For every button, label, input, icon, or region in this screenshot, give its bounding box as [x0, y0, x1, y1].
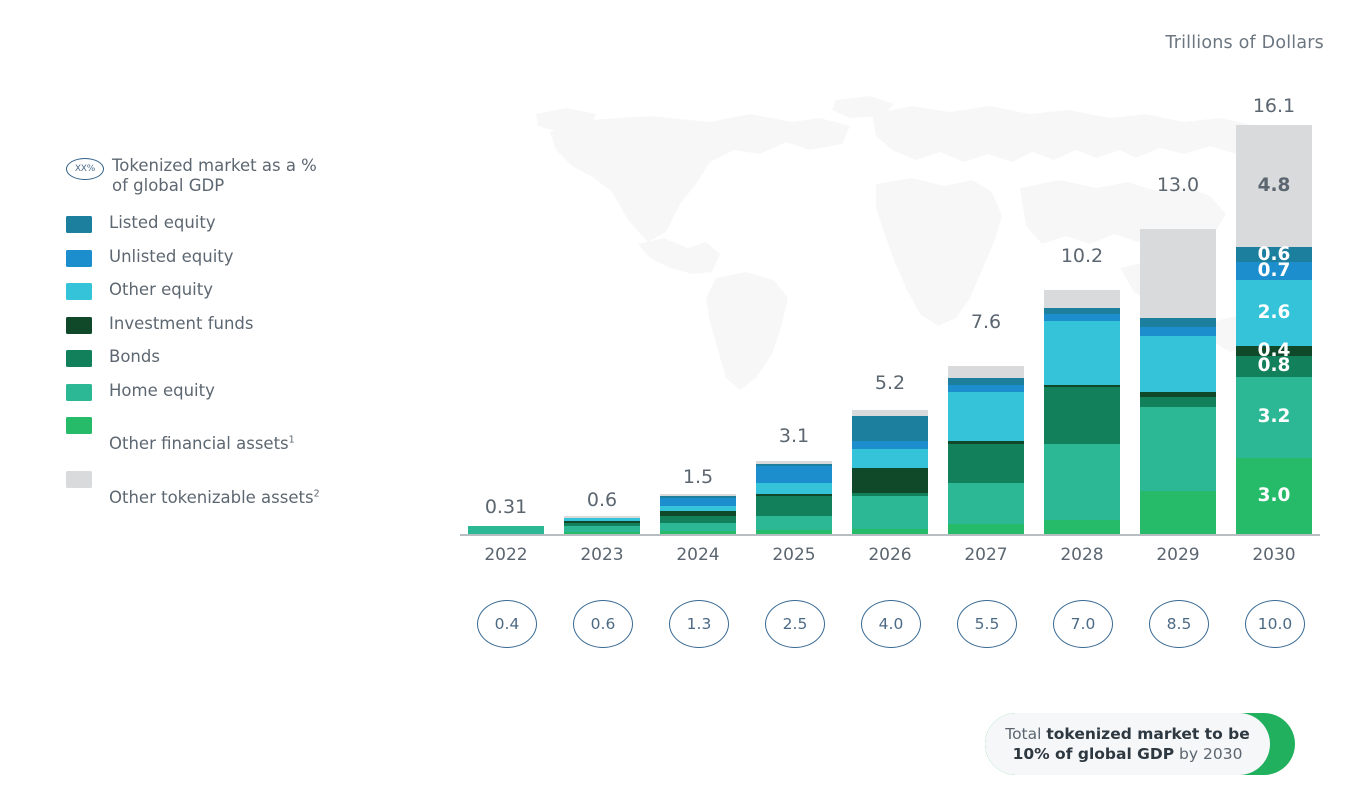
- legend-swatch-bonds: [66, 350, 92, 367]
- bar-total-label-2026: 5.2: [852, 372, 928, 394]
- chart-legend: XX% Tokenized market as a % of global GD…: [66, 156, 396, 521]
- legend-item-other-financial-assets[interactable]: Other financial assets1: [66, 414, 396, 454]
- legend-item-other-tokenizable-assets[interactable]: Other tokenizable assets2: [66, 468, 396, 508]
- bar-column-2026[interactable]: [852, 410, 928, 534]
- segment-value-label: 0.7: [1236, 262, 1312, 281]
- bar-segment-home_equity-2029[interactable]: [1140, 407, 1216, 491]
- axis-baseline: [460, 534, 1320, 536]
- legend-item-gdp-note: XX% Tokenized market as a % of global GD…: [66, 156, 396, 196]
- bar-segment-other_financial-2029[interactable]: [1140, 491, 1216, 534]
- bar-total-label-2024: 1.5: [660, 466, 736, 488]
- legend-item-unlisted-equity[interactable]: Unlisted equity: [66, 247, 396, 267]
- bar-column-2030[interactable]: 4.80.60.72.60.40.83.23.0: [1236, 125, 1312, 534]
- bar-segment-other_equity-2025[interactable]: [756, 483, 832, 494]
- segment-value-label: 3.0: [1236, 487, 1312, 506]
- legend-swatch-other-tokenizable-assets: [66, 471, 92, 488]
- bar-total-label-2022: 0.31: [468, 496, 544, 518]
- legend-swatch-listed-equity: [66, 216, 92, 233]
- bar-segment-bonds-2029[interactable]: [1140, 397, 1216, 407]
- bar-segment-other_financial-2030[interactable]: 3.0: [1236, 458, 1312, 534]
- x-axis-label-2024: 2024: [660, 545, 736, 565]
- x-axis-label-2022: 2022: [468, 545, 544, 565]
- bar-column-2027[interactable]: [948, 366, 1024, 534]
- bar-segment-investment_funds-2026[interactable]: [852, 468, 928, 493]
- bar-segment-unlisted_equity-2028[interactable]: [1044, 314, 1120, 322]
- bar-column-2022[interactable]: [468, 526, 544, 534]
- callout-text: Total tokenized market to be 10% of glob…: [985, 724, 1270, 764]
- legend-swatch-other-financial-assets: [66, 417, 92, 434]
- bar-segment-unlisted_equity-2026[interactable]: [852, 441, 928, 449]
- gdp-share-badge-2030: 10.0: [1245, 600, 1305, 648]
- bar-total-label-2028: 10.2: [1044, 245, 1120, 267]
- bar-total-label-2027: 7.6: [948, 311, 1024, 333]
- legend-label-gdp-note: Tokenized market as a % of global GDP: [112, 156, 317, 196]
- bar-segment-home_equity-2025[interactable]: [756, 516, 832, 530]
- bar-segment-other_tokenizable-2029[interactable]: [1140, 229, 1216, 318]
- bar-total-label-2025: 3.1: [756, 425, 832, 447]
- x-axis-label-2028: 2028: [1044, 545, 1120, 565]
- bar-column-2023[interactable]: [564, 516, 640, 534]
- legend-swatch-unlisted-equity: [66, 250, 92, 267]
- x-axis-label-2027: 2027: [948, 545, 1024, 565]
- legend-label-text: Other financial assets: [109, 434, 289, 453]
- gdp-share-row: 0.40.61.32.54.05.57.08.510.0: [450, 600, 1330, 656]
- bar-segment-listed_equity-2027[interactable]: [948, 378, 1024, 386]
- bar-segment-other_tokenizable-2028[interactable]: [1044, 290, 1120, 308]
- x-axis-label-2025: 2025: [756, 545, 832, 565]
- units-label: Trillions of Dollars: [1165, 33, 1324, 53]
- bar-segment-bonds-2030[interactable]: 0.8: [1236, 356, 1312, 376]
- legend-label-investment-funds: Investment funds: [109, 314, 254, 334]
- segment-value-label: 0.8: [1236, 357, 1312, 376]
- bar-segment-bonds-2028[interactable]: [1044, 387, 1120, 444]
- legend-item-bonds[interactable]: Bonds: [66, 347, 396, 367]
- gdp-share-badge-2027: 5.5: [957, 600, 1017, 648]
- gdp-share-badge-2022: 0.4: [477, 600, 537, 648]
- legend-item-listed-equity[interactable]: Listed equity: [66, 213, 396, 233]
- legend-item-other-equity[interactable]: Other equity: [66, 280, 396, 300]
- bar-segment-bonds-2027[interactable]: [948, 444, 1024, 483]
- bar-segment-other_equity-2026[interactable]: [852, 449, 928, 468]
- gdp-share-badge-2028: 7.0: [1053, 600, 1113, 648]
- legend-swatch-home-equity: [66, 384, 92, 401]
- bar-column-2025[interactable]: [756, 461, 832, 534]
- bar-segment-home_equity-2028[interactable]: [1044, 444, 1120, 520]
- bar-segment-other_tokenizable-2027[interactable]: [948, 366, 1024, 377]
- legend-item-investment-funds[interactable]: Investment funds: [66, 314, 396, 334]
- chart-canvas: Trillions of Dollars XX% Tokenized marke…: [0, 0, 1368, 793]
- segment-value-label: 2.6: [1236, 304, 1312, 323]
- bar-segment-other_equity-2027[interactable]: [948, 392, 1024, 442]
- bar-segment-home_equity-2022[interactable]: [468, 526, 544, 534]
- gdp-share-badge-2023: 0.6: [573, 600, 633, 648]
- bar-total-label-2030: 16.1: [1236, 95, 1312, 117]
- x-axis-labels: 202220232024202520262027202820292030: [450, 545, 1330, 571]
- legend-footnote-marker: 1: [289, 435, 295, 446]
- bar-segment-home_equity-2024[interactable]: [660, 523, 736, 531]
- bar-segment-home_equity-2026[interactable]: [852, 496, 928, 529]
- bar-segment-other_tokenizable-2030[interactable]: 4.8: [1236, 125, 1312, 247]
- legend-label-listed-equity: Listed equity: [109, 213, 216, 233]
- legend-label-unlisted-equity: Unlisted equity: [109, 247, 234, 267]
- bar-segment-unlisted_equity-2025[interactable]: [756, 466, 832, 483]
- gdp-percent-badge-icon: XX%: [66, 158, 104, 180]
- bar-chart-plot: 4.80.60.72.60.40.83.23.0 0.310.61.53.15.…: [450, 86, 1330, 536]
- legend-label-text: Other tokenizable assets: [109, 488, 314, 507]
- gdp-share-badge-2029: 8.5: [1149, 600, 1209, 648]
- gdp-share-badge-2024: 1.3: [669, 600, 729, 648]
- x-axis-label-2023: 2023: [564, 545, 640, 565]
- legend-item-home-equity[interactable]: Home equity: [66, 381, 396, 401]
- legend-label-other-equity: Other equity: [109, 280, 213, 300]
- bar-segment-listed_equity-2029[interactable]: [1140, 318, 1216, 327]
- bar-total-label-2029: 13.0: [1140, 174, 1216, 196]
- segment-value-label: 4.8: [1236, 177, 1312, 196]
- bar-segment-other_financial-2027[interactable]: [948, 524, 1024, 534]
- bar-segment-unlisted_equity-2029[interactable]: [1140, 327, 1216, 336]
- bar-segment-other_equity-2030[interactable]: 2.6: [1236, 280, 1312, 346]
- bar-total-label-2023: 0.6: [564, 489, 640, 511]
- bar-segment-bonds-2025[interactable]: [756, 496, 832, 516]
- bar-segment-bonds-2024[interactable]: [660, 516, 736, 523]
- bar-segment-unlisted_equity-2024[interactable]: [660, 498, 736, 506]
- bar-column-2024[interactable]: [660, 494, 736, 534]
- bar-segment-other_financial-2028[interactable]: [1044, 520, 1120, 534]
- callout-banner: Total tokenized market to be 10% of glob…: [985, 713, 1295, 775]
- x-axis-label-2026: 2026: [852, 545, 928, 565]
- bar-segment-listed_equity-2026[interactable]: [852, 416, 928, 441]
- bar-segment-home_equity-2030[interactable]: 3.2: [1236, 377, 1312, 458]
- bar-segment-unlisted_equity-2030[interactable]: 0.7: [1236, 262, 1312, 280]
- x-axis-label-2030: 2030: [1236, 545, 1312, 565]
- bar-column-2028[interactable]: [1044, 290, 1120, 534]
- bar-segment-home_equity-2027[interactable]: [948, 483, 1024, 524]
- bar-segment-other_equity-2028[interactable]: [1044, 321, 1120, 385]
- x-axis-label-2029: 2029: [1140, 545, 1216, 565]
- segment-value-label: 3.2: [1236, 408, 1312, 427]
- legend-footnote-marker: 2: [314, 488, 320, 499]
- legend-label-bonds: Bonds: [109, 347, 160, 367]
- gdp-share-badge-2025: 2.5: [765, 600, 825, 648]
- legend-swatch-other-equity: [66, 283, 92, 300]
- legend-label-other-financial-assets: Other financial assets1: [109, 414, 295, 454]
- bar-column-2029[interactable]: [1140, 229, 1216, 534]
- bar-segment-other_equity-2029[interactable]: [1140, 336, 1216, 392]
- callout-inner: Total tokenized market to be 10% of glob…: [985, 713, 1270, 775]
- legend-label-home-equity: Home equity: [109, 381, 215, 401]
- legend-swatch-investment-funds: [66, 317, 92, 334]
- gdp-share-badge-2026: 4.0: [861, 600, 921, 648]
- legend-label-other-tokenizable-assets: Other tokenizable assets2: [109, 468, 320, 508]
